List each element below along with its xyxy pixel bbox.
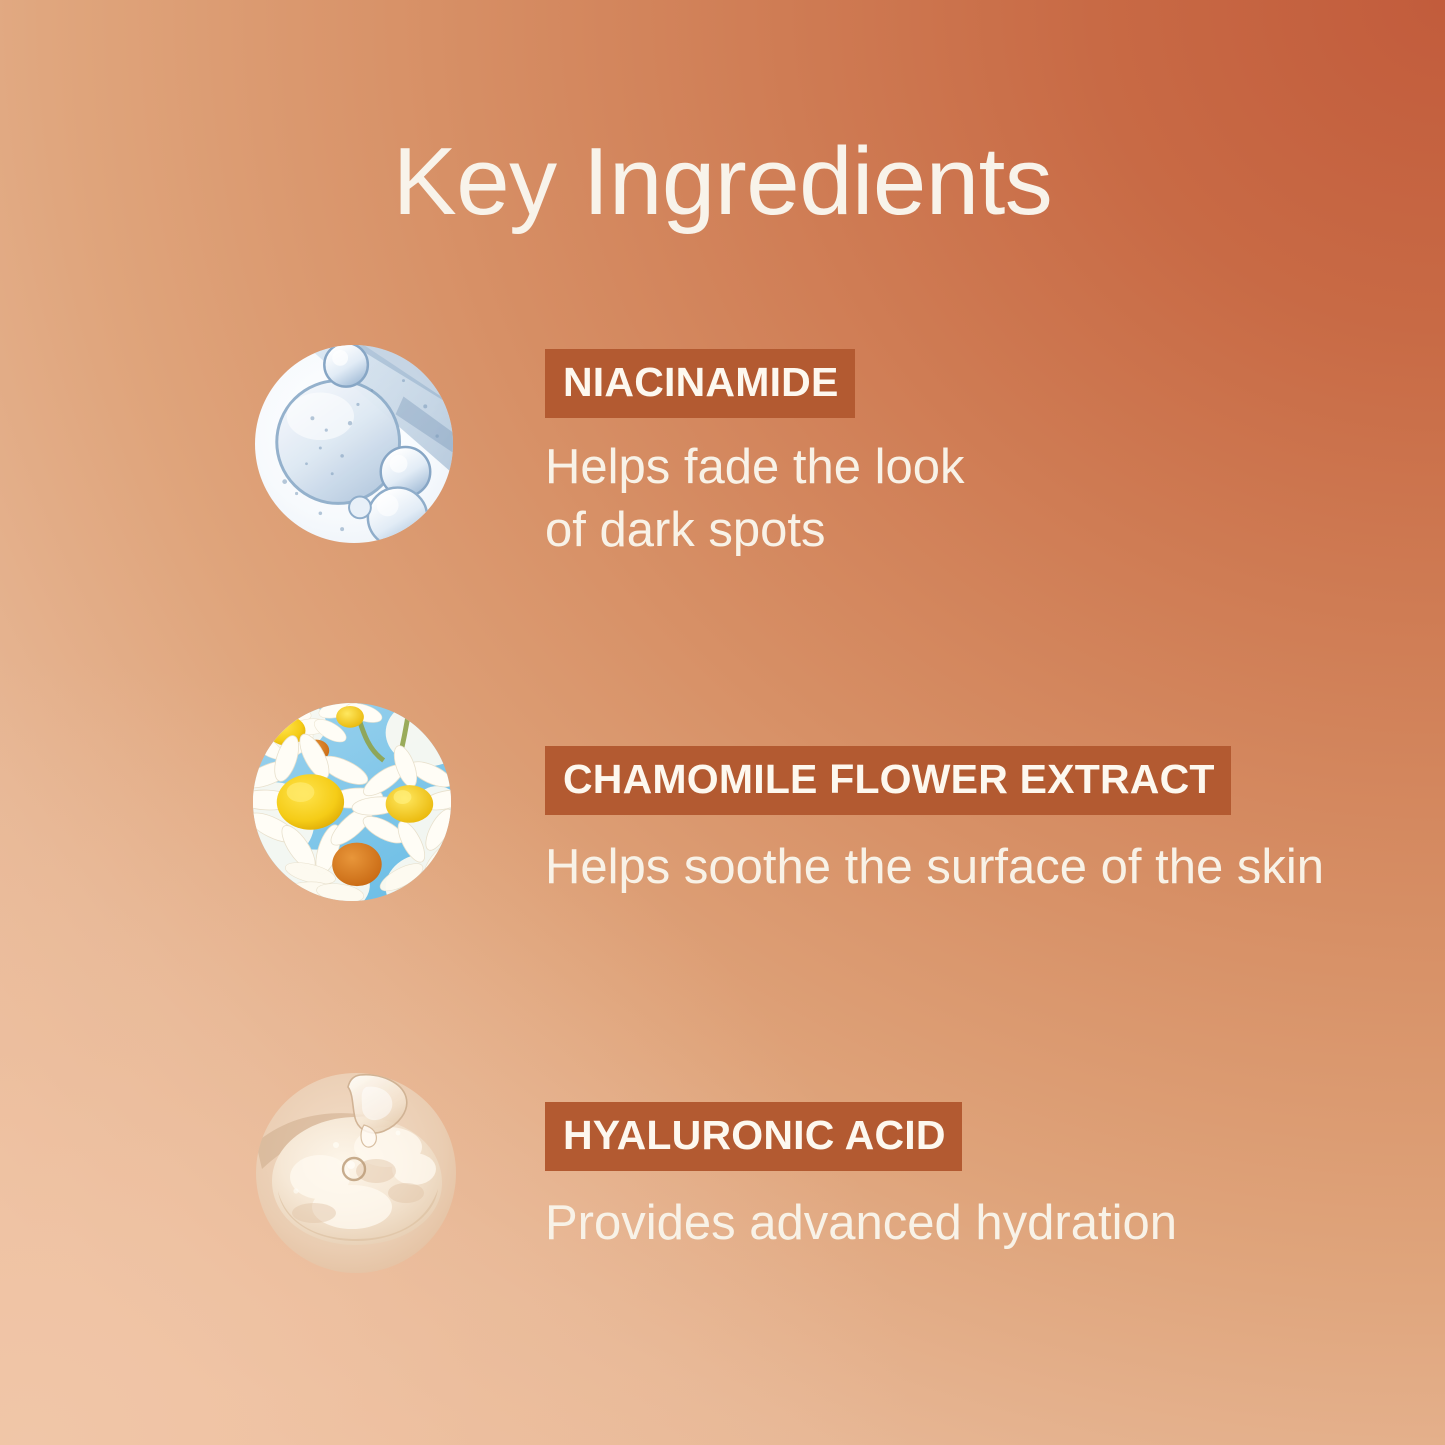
ingredient-image-clear-serum-gel-droplet [256,1073,456,1273]
ingredient-text-column: NIACINAMIDE Helps fade the look of dark … [545,349,1385,561]
ingredient-image-blue-water-bubbles-macro [255,345,453,543]
ingredient-text-column: HYALURONIC ACID Provides advanced hydrat… [545,1102,1385,1255]
ingredient-text-column: CHAMOMILE FLOWER EXTRACT Helps soothe th… [545,746,1385,899]
ingredient-description: Provides advanced hydration [545,1192,1385,1255]
key-ingredients-poster: Key Ingredients [0,0,1445,1445]
ingredient-description: Helps fade the look of dark spots [545,436,1385,561]
ingredient-name-badge: CHAMOMILE FLOWER EXTRACT [545,746,1231,815]
ingredient-name-badge: NIACINAMIDE [545,349,855,418]
ingredient-image-chamomile-daisy-flowers [253,703,451,901]
ingredient-name-badge: HYALURONIC ACID [545,1102,962,1171]
page-title: Key Ingredients [0,134,1445,230]
ingredient-description: Helps soothe the surface of the skin [545,836,1385,899]
